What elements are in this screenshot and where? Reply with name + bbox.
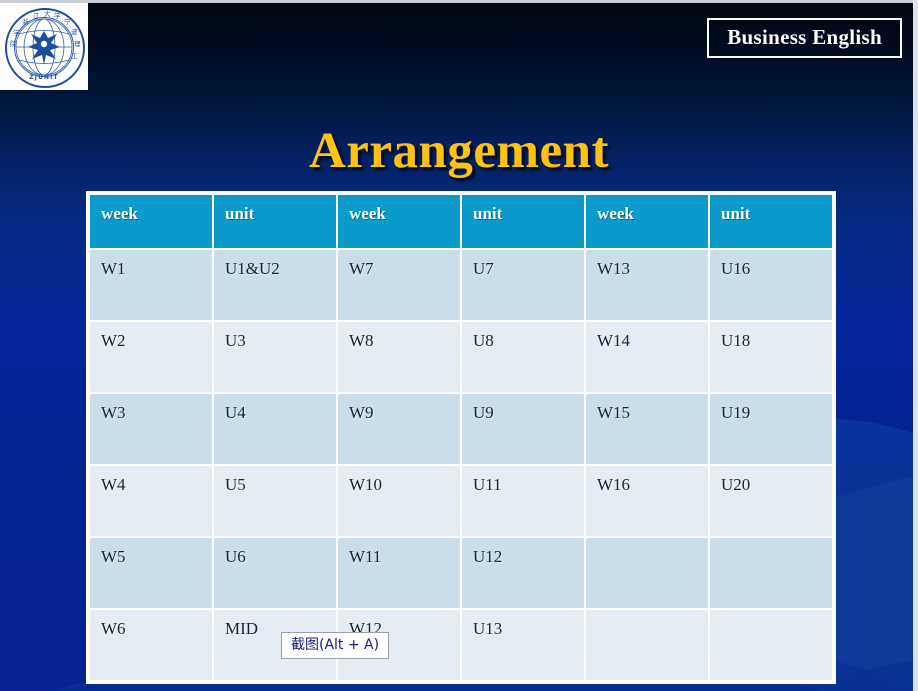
cell-unit: U19	[710, 394, 832, 464]
cell-week: W9	[338, 394, 460, 464]
cell-unit: U20	[710, 466, 832, 536]
cell-week: W3	[90, 394, 212, 464]
cell-week: W16	[586, 466, 708, 536]
table-header: week unit week unit week unit	[90, 195, 832, 248]
screenshot-capture-button[interactable]: 截图(Alt + A)	[281, 632, 389, 659]
column-header-unit-1: unit	[214, 195, 336, 248]
table-row: W1 U1&U2 W7 U7 W13 U16	[90, 250, 832, 320]
svg-text:学: 学	[13, 28, 20, 37]
cell-week: W14	[586, 322, 708, 392]
arrangement-table: week unit week unit week unit W1 U1&U2 W…	[88, 193, 834, 682]
svg-text:学: 学	[54, 11, 61, 20]
cell-unit: U16	[710, 250, 832, 320]
table-body: W1 U1&U2 W7 U7 W13 U16 W2 U3 W8 U8 W14 U…	[90, 250, 832, 680]
seal-icon: ZJUNIT 浙 江 大 学 宁 波 理 工 院 学	[4, 7, 84, 87]
viewer-top-edge	[0, 0, 918, 3]
cell-week: W10	[338, 466, 460, 536]
viewer-right-edge	[913, 0, 918, 691]
svg-text:波: 波	[71, 27, 78, 36]
svg-text:院: 院	[10, 39, 17, 48]
cell-unit: U4	[214, 394, 336, 464]
cell-week: W2	[90, 322, 212, 392]
cell-week: W7	[338, 250, 460, 320]
column-header-week-2: week	[338, 195, 460, 248]
cell-unit: U18	[710, 322, 832, 392]
university-logo: ZJUNIT 浙 江 大 学 宁 波 理 工 院 学	[0, 3, 88, 90]
cell-week-empty	[586, 610, 708, 680]
arrangement-table-container: week unit week unit week unit W1 U1&U2 W…	[86, 191, 836, 684]
cell-week: W1	[90, 250, 212, 320]
cell-unit: U6	[214, 538, 336, 608]
table-row: W3 U4 W9 U9 W15 U19	[90, 394, 832, 464]
cell-unit: U1&U2	[214, 250, 336, 320]
cell-unit: U7	[462, 250, 584, 320]
eagle-emblem-icon	[28, 31, 60, 65]
svg-text:江: 江	[33, 12, 40, 20]
svg-text:宁: 宁	[64, 17, 71, 26]
cell-week: W6	[90, 610, 212, 680]
cell-week: W5	[90, 538, 212, 608]
table-header-row: week unit week unit week unit	[90, 195, 832, 248]
cell-week: W13	[586, 250, 708, 320]
table-row: W2 U3 W8 U8 W14 U18	[90, 322, 832, 392]
table-row: W4 U5 W10 U11 W16 U20	[90, 466, 832, 536]
table-row: W5 U6 W11 U12	[90, 538, 832, 608]
seal-artwork-icon: ZJUNIT 浙 江 大 学 宁 波 理 工 院 学	[4, 7, 84, 87]
cell-unit: U3	[214, 322, 336, 392]
presentation-slide: ZJUNIT 浙 江 大 学 宁 波 理 工 院 学 Business Engl…	[0, 0, 918, 691]
cell-week: W15	[586, 394, 708, 464]
cell-unit: U5	[214, 466, 336, 536]
course-badge-label: Business English	[727, 24, 882, 50]
cell-unit-empty	[710, 538, 832, 608]
table-row: W6 MID W12 U13	[90, 610, 832, 680]
column-header-unit-2: unit	[462, 195, 584, 248]
svg-text:浙: 浙	[22, 17, 29, 26]
cell-unit: U8	[462, 322, 584, 392]
page-title: Arrangement	[0, 122, 918, 180]
cell-unit: U12	[462, 538, 584, 608]
cell-unit: U9	[462, 394, 584, 464]
cell-week: W4	[90, 466, 212, 536]
cell-unit: U11	[462, 466, 584, 536]
cell-week: W11	[338, 538, 460, 608]
column-header-week-3: week	[586, 195, 708, 248]
svg-text:理: 理	[74, 40, 81, 48]
svg-text:ZJUNIT: ZJUNIT	[29, 74, 58, 81]
cell-unit: U13	[462, 610, 584, 680]
cell-unit-empty	[710, 610, 832, 680]
svg-text:工: 工	[71, 52, 78, 60]
page-title-text: Arrangement	[309, 122, 609, 180]
course-badge: Business English	[707, 18, 902, 58]
cell-week-empty	[586, 538, 708, 608]
column-header-unit-3: unit	[710, 195, 832, 248]
column-header-week-1: week	[90, 195, 212, 248]
svg-text:大: 大	[44, 9, 51, 18]
cell-week: W8	[338, 322, 460, 392]
